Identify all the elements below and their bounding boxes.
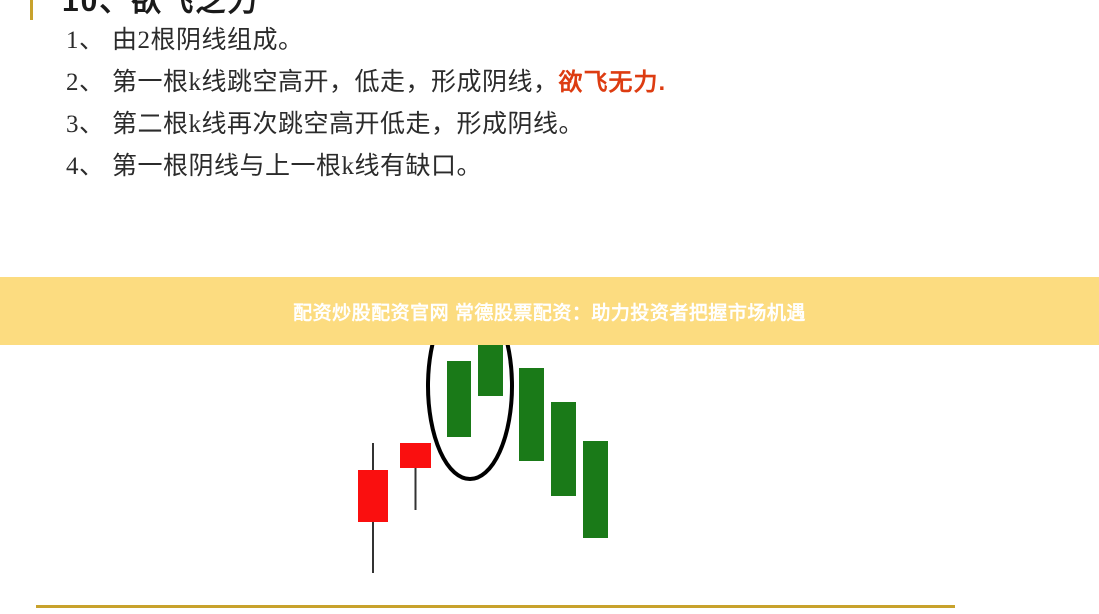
overlay-banner-text: 配资炒股配资官网 常德股票配资：助力投资者把握市场机遇: [293, 298, 806, 325]
candle-body: [551, 402, 576, 496]
candle-body: [358, 470, 388, 522]
candle-body: [519, 368, 544, 461]
bottom-divider: [36, 605, 955, 608]
overlay-banner: 配资炒股配资官网 常德股票配资：助力投资者把握市场机遇: [0, 277, 1099, 345]
slide-page: 10、欲飞乏力 1、由2根阴线组成。 2、第一根k线跳空高开，低走，形成阴线，欲…: [0, 0, 1099, 614]
candle-body: [400, 443, 431, 468]
candle-body: [447, 361, 471, 437]
candle-body: [583, 441, 608, 538]
candlestick-chart: [0, 340, 1099, 600]
